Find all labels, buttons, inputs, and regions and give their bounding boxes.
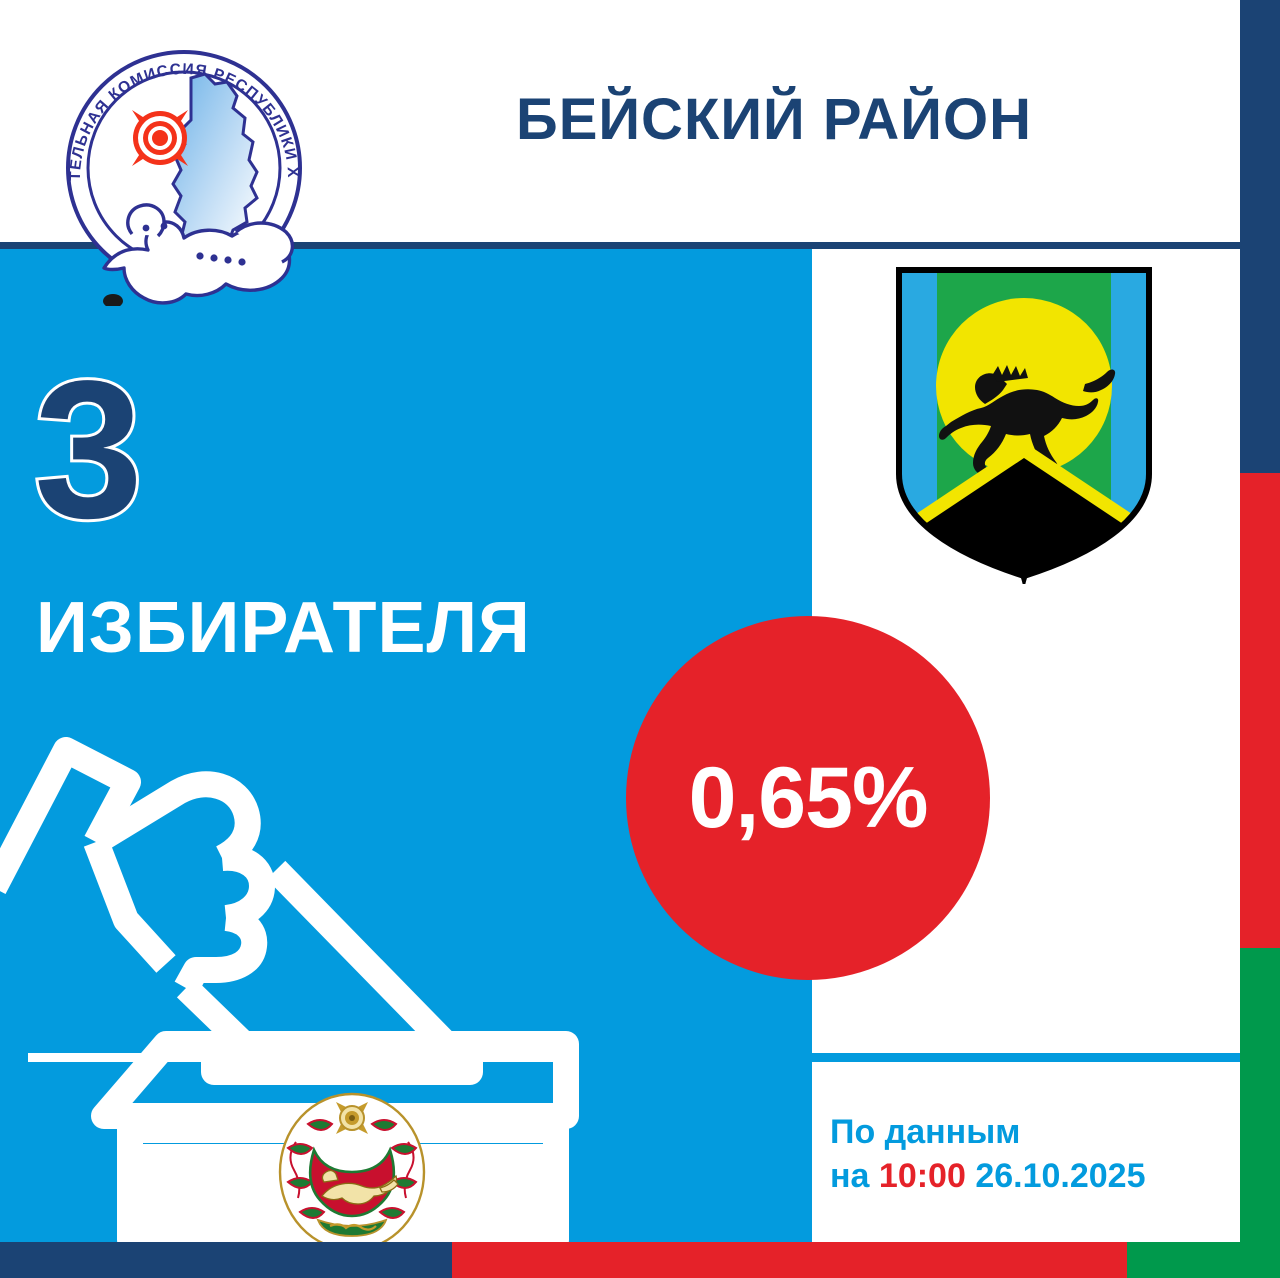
flag-segment-red <box>1240 473 1280 948</box>
page-title: БЕЙСКИЙ РАЙОН <box>516 86 1032 153</box>
bottom-flag-segment-red <box>452 1242 1127 1278</box>
bottom-flag-segment-green <box>1127 1242 1280 1278</box>
flag-segment-green <box>1240 948 1280 1278</box>
as-of-note-line2: на 10:00 26.10.2025 <box>830 1154 1146 1198</box>
khakassia-coat-of-arms-icon <box>262 1088 442 1253</box>
right-flag-bar <box>1240 0 1280 1278</box>
as-of-date: 26.10.2025 <box>966 1157 1146 1195</box>
turnout-percent-value: 0,65% <box>689 749 928 848</box>
poster-root: ИЗБИРАТЕЛЬНАЯ КОМИССИЯ РЕСПУБЛИКИ ХАКАСИ… <box>0 0 1280 1278</box>
footer-rule-right <box>812 1053 1240 1062</box>
as-of-prefix: на <box>830 1157 879 1195</box>
khakassia-election-commission-seal-icon: ИЗБИРАТЕЛЬНАЯ КОМИССИЯ РЕСПУБЛИКИ ХАКАСИ… <box>40 18 328 306</box>
flag-segment-navy <box>1240 0 1280 473</box>
as-of-time: 10:00 <box>879 1157 966 1195</box>
bottom-flag-segment-navy <box>0 1242 452 1278</box>
turnout-percent-badge: 0,65% <box>626 616 990 980</box>
voter-count-number: 3 <box>34 352 143 548</box>
bottom-flag-bar <box>0 1242 1280 1278</box>
as-of-note-line1: По данным <box>830 1110 1146 1154</box>
voter-count-label: ИЗБИРАТЕЛЯ <box>36 592 531 664</box>
as-of-note: По данным на 10:00 26.10.2025 <box>830 1110 1146 1198</box>
beysky-district-coat-of-arms-icon <box>893 266 1155 584</box>
